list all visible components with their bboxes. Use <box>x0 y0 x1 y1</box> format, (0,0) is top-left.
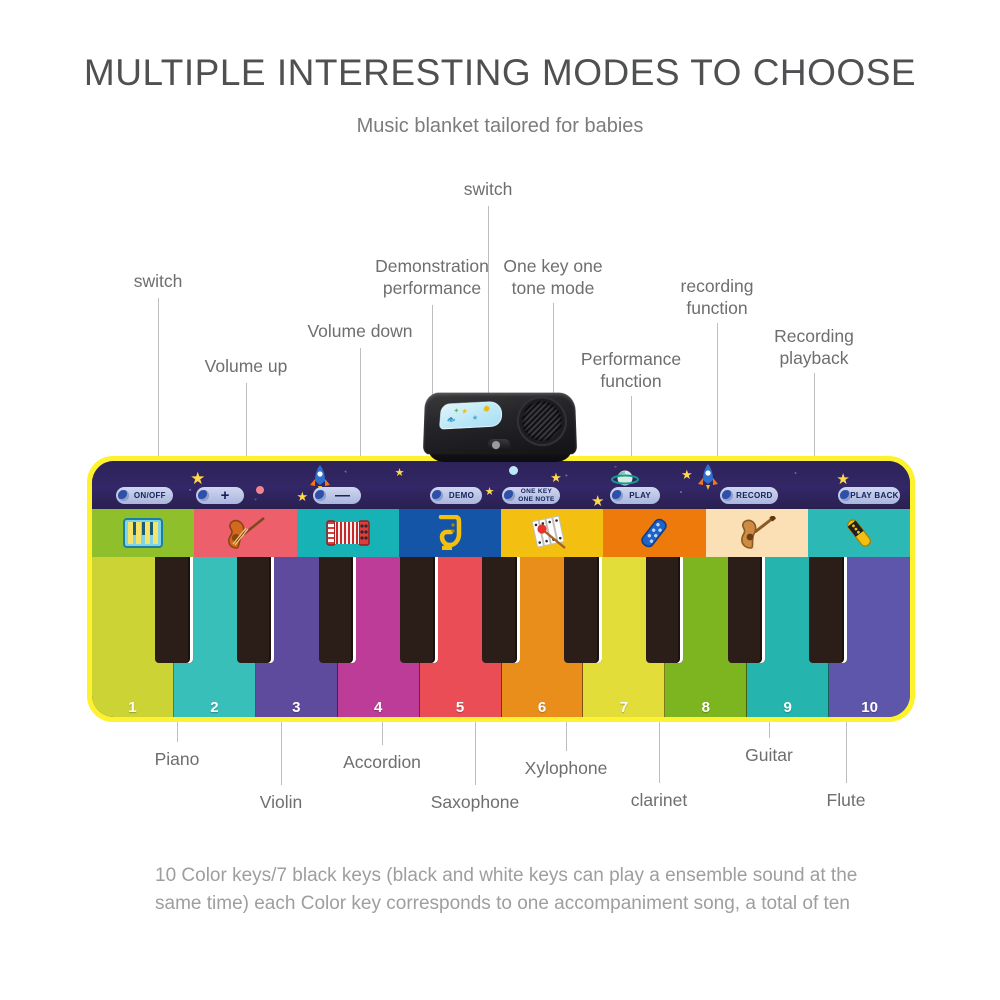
white-key-number-1: 1 <box>128 699 136 716</box>
mat-button-record-label: RECORD <box>736 492 772 500</box>
xylophone-icon <box>531 516 573 550</box>
star-decoration: ★ <box>190 470 205 487</box>
white-key-8[interactable]: 8 <box>665 557 747 717</box>
mat-button-one-key-one-note[interactable]: ONE KEYONE NOTE <box>502 487 559 504</box>
mat-button-volume-down-glyph: — <box>335 491 350 501</box>
top-callout-label-2: Volume down <box>307 320 412 342</box>
instrument-cell-violin[interactable] <box>194 509 296 557</box>
infographic-canvas: MULTIPLE INTERESTING MODES TO CHOOSE Mus… <box>0 0 1000 1000</box>
instrument-cell-xylophone[interactable] <box>501 509 603 557</box>
instrument-cell-clarinet[interactable] <box>603 509 705 557</box>
white-key-10[interactable]: 10 <box>829 557 910 717</box>
mat-button-one-key-one-note-line: ONE KEY <box>521 488 552 496</box>
instrument-cell-guitar[interactable] <box>706 509 808 557</box>
white-key-number-5: 5 <box>456 699 464 716</box>
mat-button-play-back-label: PLAY BACK <box>850 492 899 500</box>
mat-button-volume-up[interactable]: + <box>196 487 244 504</box>
mode-switch-knob[interactable] <box>488 439 510 450</box>
white-key-number-8: 8 <box>702 699 710 716</box>
bottom-callout-label-5: clarinet <box>631 789 687 811</box>
instrument-band <box>92 509 910 557</box>
mat-button-play[interactable]: PLAY <box>610 487 660 504</box>
fish-icon: 🐟 <box>446 417 455 424</box>
leaf-icon: ✦ <box>453 408 459 415</box>
white-keys-row: 12345678910 <box>92 557 910 717</box>
speaker-grille <box>522 401 563 441</box>
mat-button-demo-label: DEMO <box>449 492 474 500</box>
control-panel-strip: ★ ★ ★ ★ ★ ★ ★ ★ ★ ★ <box>92 461 910 509</box>
speaker-console[interactable]: 🐟 ★ ★ ✹ ✦ <box>424 392 576 462</box>
mat-button-demo[interactable]: DEMO <box>430 487 482 504</box>
top-callout-label-4: switch <box>464 178 513 200</box>
star-decoration: ★ <box>485 487 495 498</box>
bottom-callout-label-0: Piano <box>155 748 200 770</box>
star-decoration: ★ <box>550 471 562 484</box>
white-key-1[interactable]: 1 <box>92 557 174 717</box>
piano-mat[interactable]: ★ ★ ★ ★ ★ ★ ★ ★ ★ ★ <box>87 456 915 722</box>
console-body: 🐟 ★ ★ ✹ ✦ <box>423 393 577 455</box>
guitar-icon <box>737 516 777 550</box>
top-callout-label-7: recording function <box>681 275 754 319</box>
clarinet-icon <box>634 516 674 550</box>
mat-button-volume-up-glyph: + <box>221 491 230 501</box>
flute-icon <box>838 516 880 550</box>
white-key-3[interactable]: 3 <box>256 557 338 717</box>
top-callout-label-5: One key one tone mode <box>503 255 602 299</box>
bottom-callout-label-6: Guitar <box>745 744 793 766</box>
white-key-number-2: 2 <box>210 699 218 716</box>
top-callout-leader-line-0 <box>158 298 159 478</box>
white-key-number-7: 7 <box>620 699 628 716</box>
white-key-4[interactable]: 4 <box>338 557 420 717</box>
mat-button-on-off-label: ON/OFF <box>134 492 166 500</box>
star-decoration: ★ <box>395 468 405 479</box>
white-key-number-9: 9 <box>784 699 792 716</box>
white-key-5[interactable]: 5 <box>420 557 502 717</box>
top-callout-label-1: Volume up <box>205 355 288 377</box>
white-key-7[interactable]: 7 <box>583 557 665 717</box>
saxophone-icon <box>435 515 465 551</box>
bottom-callout-label-4: Xylophone <box>525 757 608 779</box>
instrument-cell-accordion[interactable] <box>297 509 399 557</box>
bottom-callout-label-2: Accordion <box>343 751 421 773</box>
rocket-decoration <box>697 464 719 490</box>
top-callout-label-8: Recording playback <box>774 325 854 369</box>
white-key-2[interactable]: 2 <box>174 557 256 717</box>
white-key-number-6: 6 <box>538 699 546 716</box>
mat-button-play-label: PLAY <box>629 492 651 500</box>
star-decoration: ★ <box>591 494 604 509</box>
page-subtitle: Music blanket tailored for babies <box>0 115 1000 138</box>
planet-decoration <box>256 486 264 494</box>
mat-button-one-key-one-note-line: ONE NOTE <box>518 496 554 504</box>
star-decoration: ★ <box>836 472 849 487</box>
wave-icon: ★ <box>472 415 479 422</box>
footer-description: 10 Color keys/7 black keys (black and wh… <box>155 862 885 918</box>
star-decoration: ★ <box>297 490 309 503</box>
star-decoration: ★ <box>681 468 693 481</box>
top-callout-leader-line-7 <box>717 323 718 478</box>
white-key-number-4: 4 <box>374 699 382 716</box>
mat-button-play-back[interactable]: PLAY BACK <box>838 487 899 504</box>
planet-decoration <box>509 466 518 475</box>
accordion-icon <box>326 518 370 548</box>
bottom-callout-label-7: Flute <box>827 789 866 811</box>
top-callout-label-6: Performance function <box>581 348 681 392</box>
mat-button-record[interactable]: RECORD <box>720 487 777 504</box>
mat-button-volume-down[interactable]: — <box>313 487 361 504</box>
console-artwork-sticker: 🐟 ★ ★ ✹ ✦ <box>439 401 503 430</box>
star-icon: ★ <box>461 408 468 415</box>
white-key-9[interactable]: 9 <box>747 557 829 717</box>
violin-icon <box>224 516 266 550</box>
piano-icon <box>123 518 163 548</box>
bottom-callout-label-1: Violin <box>260 791 303 813</box>
page-title: MULTIPLE INTERESTING MODES TO CHOOSE <box>0 52 1000 94</box>
top-callout-label-3: Demonstration performance <box>375 255 489 299</box>
instrument-cell-piano[interactable] <box>92 509 194 557</box>
sun-icon: ✹ <box>482 406 491 413</box>
white-key-number-10: 10 <box>861 699 878 716</box>
mat-button-on-off[interactable]: ON/OFF <box>116 487 173 504</box>
bottom-callout-label-3: Saxophone <box>431 791 520 813</box>
instrument-cell-flute[interactable] <box>808 509 910 557</box>
top-callout-label-0: switch <box>134 270 183 292</box>
white-key-number-3: 3 <box>292 699 300 716</box>
white-key-6[interactable]: 6 <box>502 557 584 717</box>
instrument-cell-saxophone[interactable] <box>399 509 501 557</box>
